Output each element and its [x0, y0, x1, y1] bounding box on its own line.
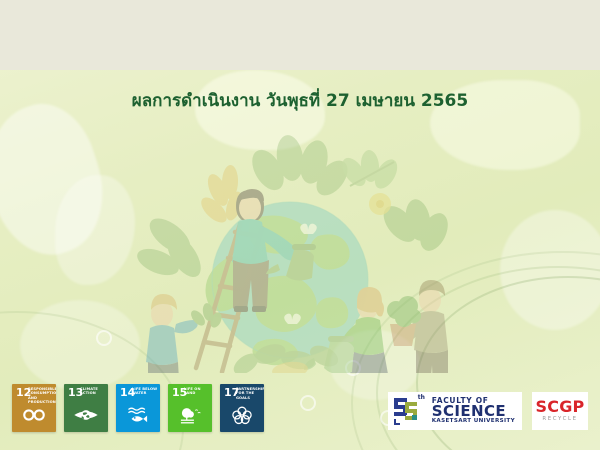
- tree-birds-icon: [168, 402, 212, 428]
- sdg-label: PARTNERSHIPS FOR THE GOALS: [236, 387, 262, 400]
- sdg-icon-17-partnerships[interactable]: 17 PARTNERSHIPS FOR THE GOALS: [220, 384, 264, 432]
- sdg-icon-14-life-below-water[interactable]: 14 LIFE BELOW WATER: [116, 384, 160, 432]
- background-dot: [300, 395, 316, 411]
- kasetsart-logo-text: FACULTY OF SCIENCE KASETSART UNIVERSITY: [432, 397, 515, 425]
- sdg-icon-13-climate-action[interactable]: 13 CLIMATE ACTION: [64, 384, 108, 432]
- fish-waves-icon: [116, 402, 160, 428]
- science-label: SCIENCE: [432, 404, 515, 419]
- 55th-anniversary-mark-icon: th: [393, 396, 427, 426]
- kasetsart-faculty-of-science-logo[interactable]: th FACULTY OF SCIENCE KASETSART UNIVERSI…: [388, 392, 522, 430]
- sdg-icon-15-life-on-land[interactable]: 15 LIFE ON LAND: [168, 384, 212, 432]
- partner-logo-group: th FACULTY OF SCIENCE KASETSART UNIVERSI…: [388, 392, 588, 430]
- scgp-tagline: RECYCLE: [542, 415, 577, 423]
- sdg-label: LIFE BELOW WATER: [132, 387, 158, 396]
- eye-globe-icon: [64, 402, 108, 428]
- infinity-icon: [12, 402, 56, 428]
- poster-canvas: โครงการสนับสนุนกิจกรรมนิสิต การจัดการขยะ…: [0, 0, 600, 450]
- kasetsart-university-label: KASETSART UNIVERSITY: [432, 419, 515, 425]
- scgp-recycle-logo[interactable]: SCGP RECYCLE: [532, 392, 588, 430]
- results-date-subtitle: ผลการดำเนินงาน วันพุธที่ 27 เมษายน 2565: [0, 90, 600, 112]
- interlocking-circles-icon: [220, 402, 264, 428]
- header-band: [0, 0, 600, 70]
- sdg-icon-row: 12 RESPONSIBLE CONSUMPTION AND PRODUCTIO…: [12, 384, 264, 432]
- people-planting-on-globe-illustration: [118, 128, 503, 373]
- scgp-wordmark: SCGP: [536, 399, 585, 415]
- background-dot: [96, 330, 112, 346]
- sdg-label: CLIMATE ACTION: [80, 387, 106, 396]
- sdg-icon-12-responsible-consumption[interactable]: 12 RESPONSIBLE CONSUMPTION AND PRODUCTIO…: [12, 384, 56, 432]
- sdg-label: LIFE ON LAND: [184, 387, 210, 396]
- anniversary-superscript: th: [418, 394, 425, 401]
